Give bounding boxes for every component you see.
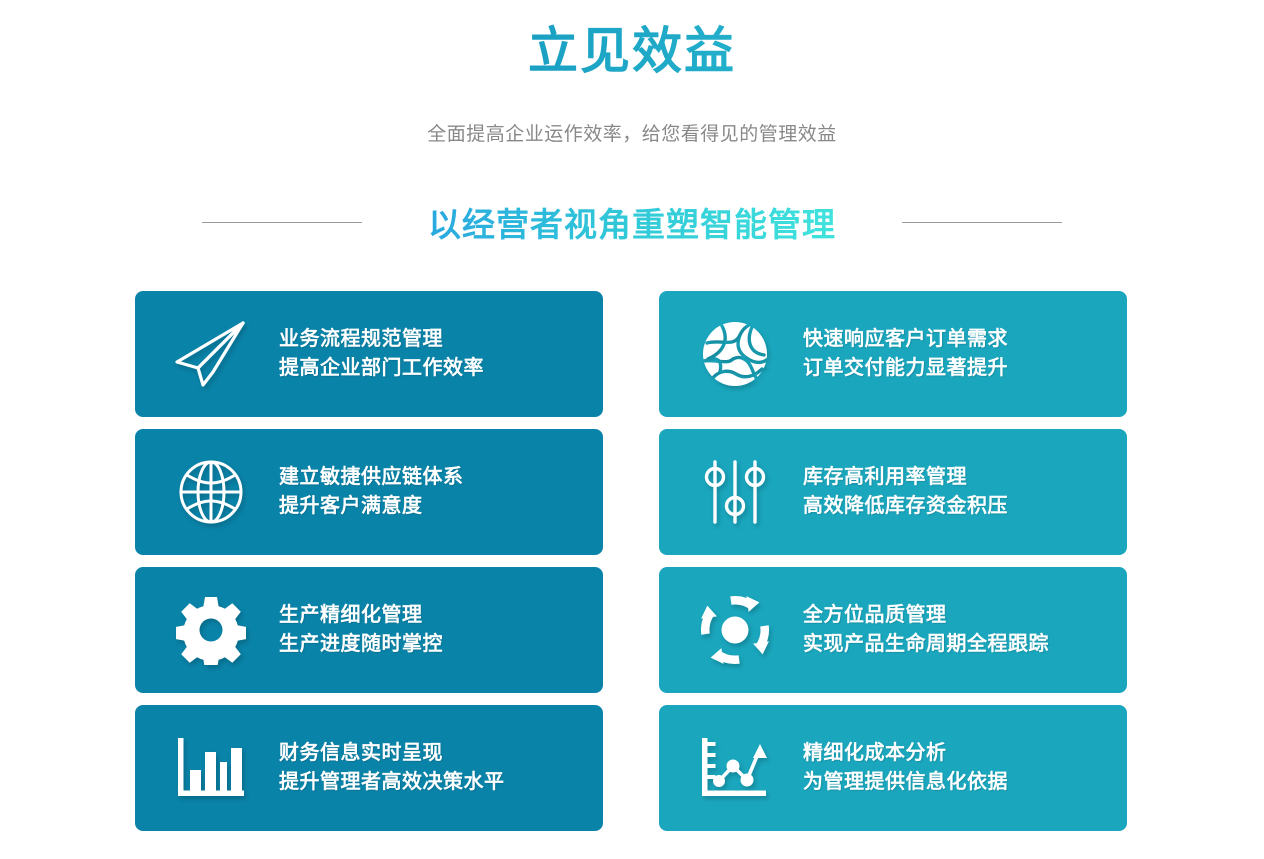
- feature-card-line1: 生产精细化管理: [279, 601, 443, 630]
- feature-card-line2: 生产进度随时掌控: [279, 630, 443, 659]
- feature-card-text: 全方位品质管理 实现产品生命周期全程跟踪: [803, 601, 1049, 659]
- page-subtitle: 全面提高企业运作效率，给您看得见的管理效益: [0, 119, 1264, 146]
- page-header: 立见效益 全面提高企业运作效率，给您看得见的管理效益: [0, 0, 1264, 146]
- globe-icon: [165, 452, 257, 532]
- feature-card[interactable]: 生产精细化管理 生产进度随时掌控: [135, 567, 603, 693]
- feature-card-text: 生产精细化管理 生产进度随时掌控: [279, 601, 443, 659]
- feature-card-line1: 库存高利用率管理: [803, 463, 1008, 492]
- bar-chart-icon: [165, 728, 257, 808]
- feature-card[interactable]: 精细化成本分析 为管理提供信息化依据: [659, 705, 1127, 831]
- line-chart-icon: [689, 728, 781, 808]
- feature-card-line2: 提升管理者高效决策水平: [279, 768, 505, 797]
- section-heading: 以经营者视角重塑智能管理: [428, 198, 836, 246]
- feature-card[interactable]: 快速响应客户订单需求 订单交付能力显著提升: [659, 291, 1127, 417]
- page-title: 立见效益: [0, 22, 1264, 81]
- feature-card-line2: 实现产品生命周期全程跟踪: [803, 630, 1049, 659]
- feature-card-text: 快速响应客户订单需求 订单交付能力显著提升: [803, 325, 1008, 383]
- feature-card[interactable]: 业务流程规范管理 提高企业部门工作效率: [135, 291, 603, 417]
- feature-card-line1: 财务信息实时呈现: [279, 739, 505, 768]
- feature-card[interactable]: 财务信息实时呈现 提升管理者高效决策水平: [135, 705, 603, 831]
- gear-icon: [165, 590, 257, 670]
- feature-card-line2: 提高企业部门工作效率: [279, 354, 484, 383]
- sliders-icon: [689, 452, 781, 532]
- feature-card-line1: 快速响应客户订单需求: [803, 325, 1008, 354]
- feature-card-text: 建立敏捷供应链体系 提升客户满意度: [279, 463, 464, 521]
- feature-card[interactable]: 全方位品质管理 实现产品生命周期全程跟踪: [659, 567, 1127, 693]
- feature-card-line1: 业务流程规范管理: [279, 325, 484, 354]
- feature-card[interactable]: 库存高利用率管理 高效降低库存资金积压: [659, 429, 1127, 555]
- network-globe-icon: [689, 314, 781, 394]
- cycle-arrows-icon: [689, 590, 781, 670]
- paper-plane-icon: [165, 314, 257, 394]
- feature-card-text: 库存高利用率管理 高效降低库存资金积压: [803, 463, 1008, 521]
- feature-card-line1: 精细化成本分析: [803, 739, 1008, 768]
- feature-card-line1: 全方位品质管理: [803, 601, 1049, 630]
- feature-card-text: 业务流程规范管理 提高企业部门工作效率: [279, 325, 484, 383]
- feature-card[interactable]: 建立敏捷供应链体系 提升客户满意度: [135, 429, 603, 555]
- feature-card-grid: 业务流程规范管理 提高企业部门工作效率: [135, 291, 1129, 831]
- feature-card-text: 财务信息实时呈现 提升管理者高效决策水平: [279, 739, 505, 797]
- feature-card-line2: 高效降低库存资金积压: [803, 492, 1008, 521]
- feature-card-line2: 订单交付能力显著提升: [803, 354, 1008, 383]
- feature-card-text: 精细化成本分析 为管理提供信息化依据: [803, 739, 1008, 797]
- section-heading-row: 以经营者视角重塑智能管理: [0, 198, 1264, 246]
- feature-card-line2: 为管理提供信息化依据: [803, 768, 1008, 797]
- divider-line-right: [902, 222, 1062, 223]
- feature-card-line2: 提升客户满意度: [279, 492, 464, 521]
- feature-card-line1: 建立敏捷供应链体系: [279, 463, 464, 492]
- divider-line-left: [202, 222, 362, 223]
